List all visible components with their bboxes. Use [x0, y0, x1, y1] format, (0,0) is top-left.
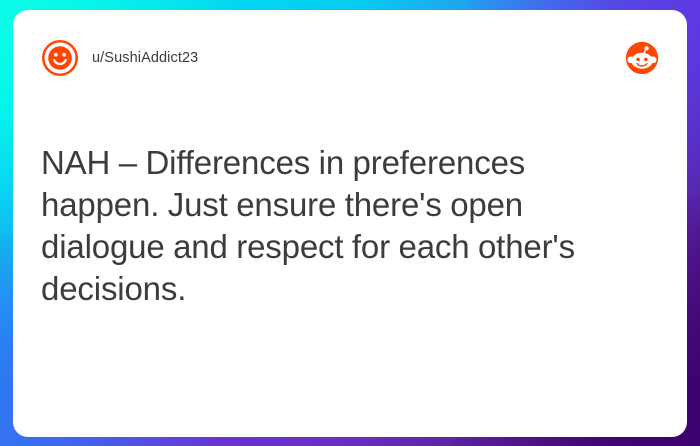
smiley-face-avatar-icon[interactable]	[41, 39, 79, 77]
post-body-text: NAH – Differences in preferences happen.…	[41, 142, 641, 310]
post-header: u/SushiAddict23	[41, 36, 659, 80]
reddit-snoo-logo-icon[interactable]	[625, 41, 659, 75]
post-author-username[interactable]: u/SushiAddict23	[92, 50, 198, 66]
post-screenshot: u/SushiAddict23 NAH – Differences in pre	[0, 0, 700, 446]
post-card: u/SushiAddict23 NAH – Differences in pre	[13, 10, 687, 437]
